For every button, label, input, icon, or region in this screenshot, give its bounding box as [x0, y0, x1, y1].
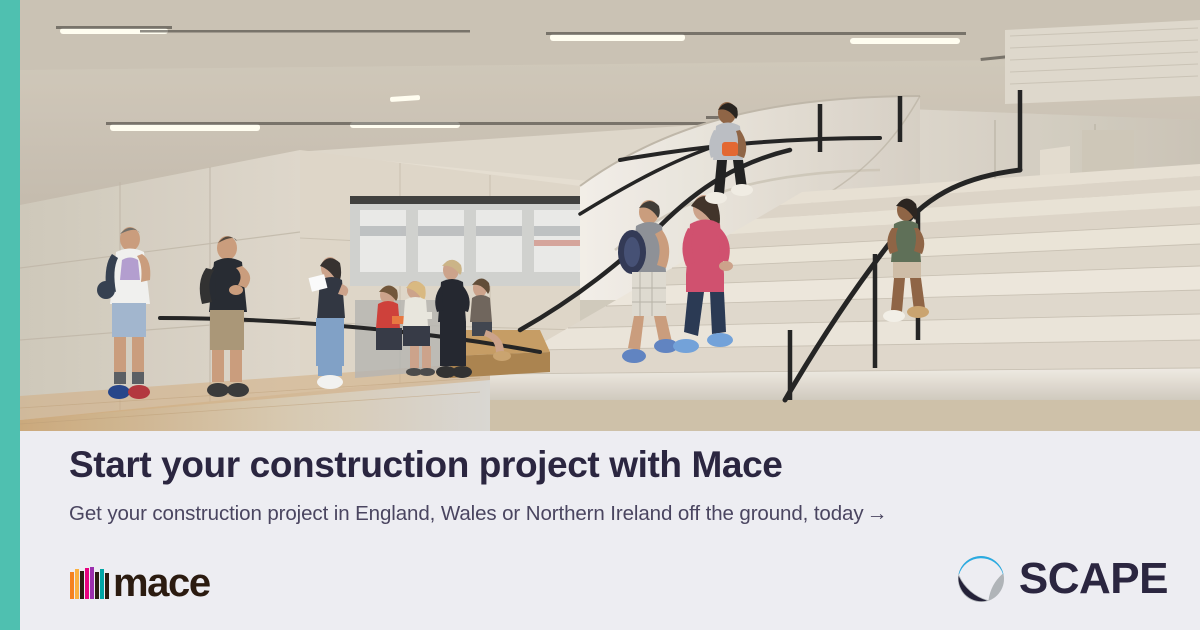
- subtitle: Get your construction project in England…: [69, 502, 887, 526]
- accent-strip: [0, 0, 20, 630]
- mace-wordmark: mace: [113, 567, 210, 599]
- subtitle-text: Get your construction project in England…: [69, 502, 863, 525]
- promo-banner: Start your construction project with Mac…: [0, 0, 1200, 630]
- scape-logo[interactable]: SCAPE: [957, 555, 1168, 603]
- page-title: Start your construction project with Mac…: [69, 444, 782, 486]
- content-panel: Start your construction project with Mac…: [20, 431, 1200, 630]
- mace-logo[interactable]: mace: [70, 559, 210, 599]
- hero-photo-illustration: [20, 0, 1200, 431]
- mace-bars-icon: [70, 567, 110, 599]
- scape-wordmark: SCAPE: [1019, 557, 1168, 601]
- scape-mark-icon: [957, 555, 1005, 603]
- arrow-right-icon: →: [866, 502, 887, 525]
- hero-photo: [20, 0, 1200, 431]
